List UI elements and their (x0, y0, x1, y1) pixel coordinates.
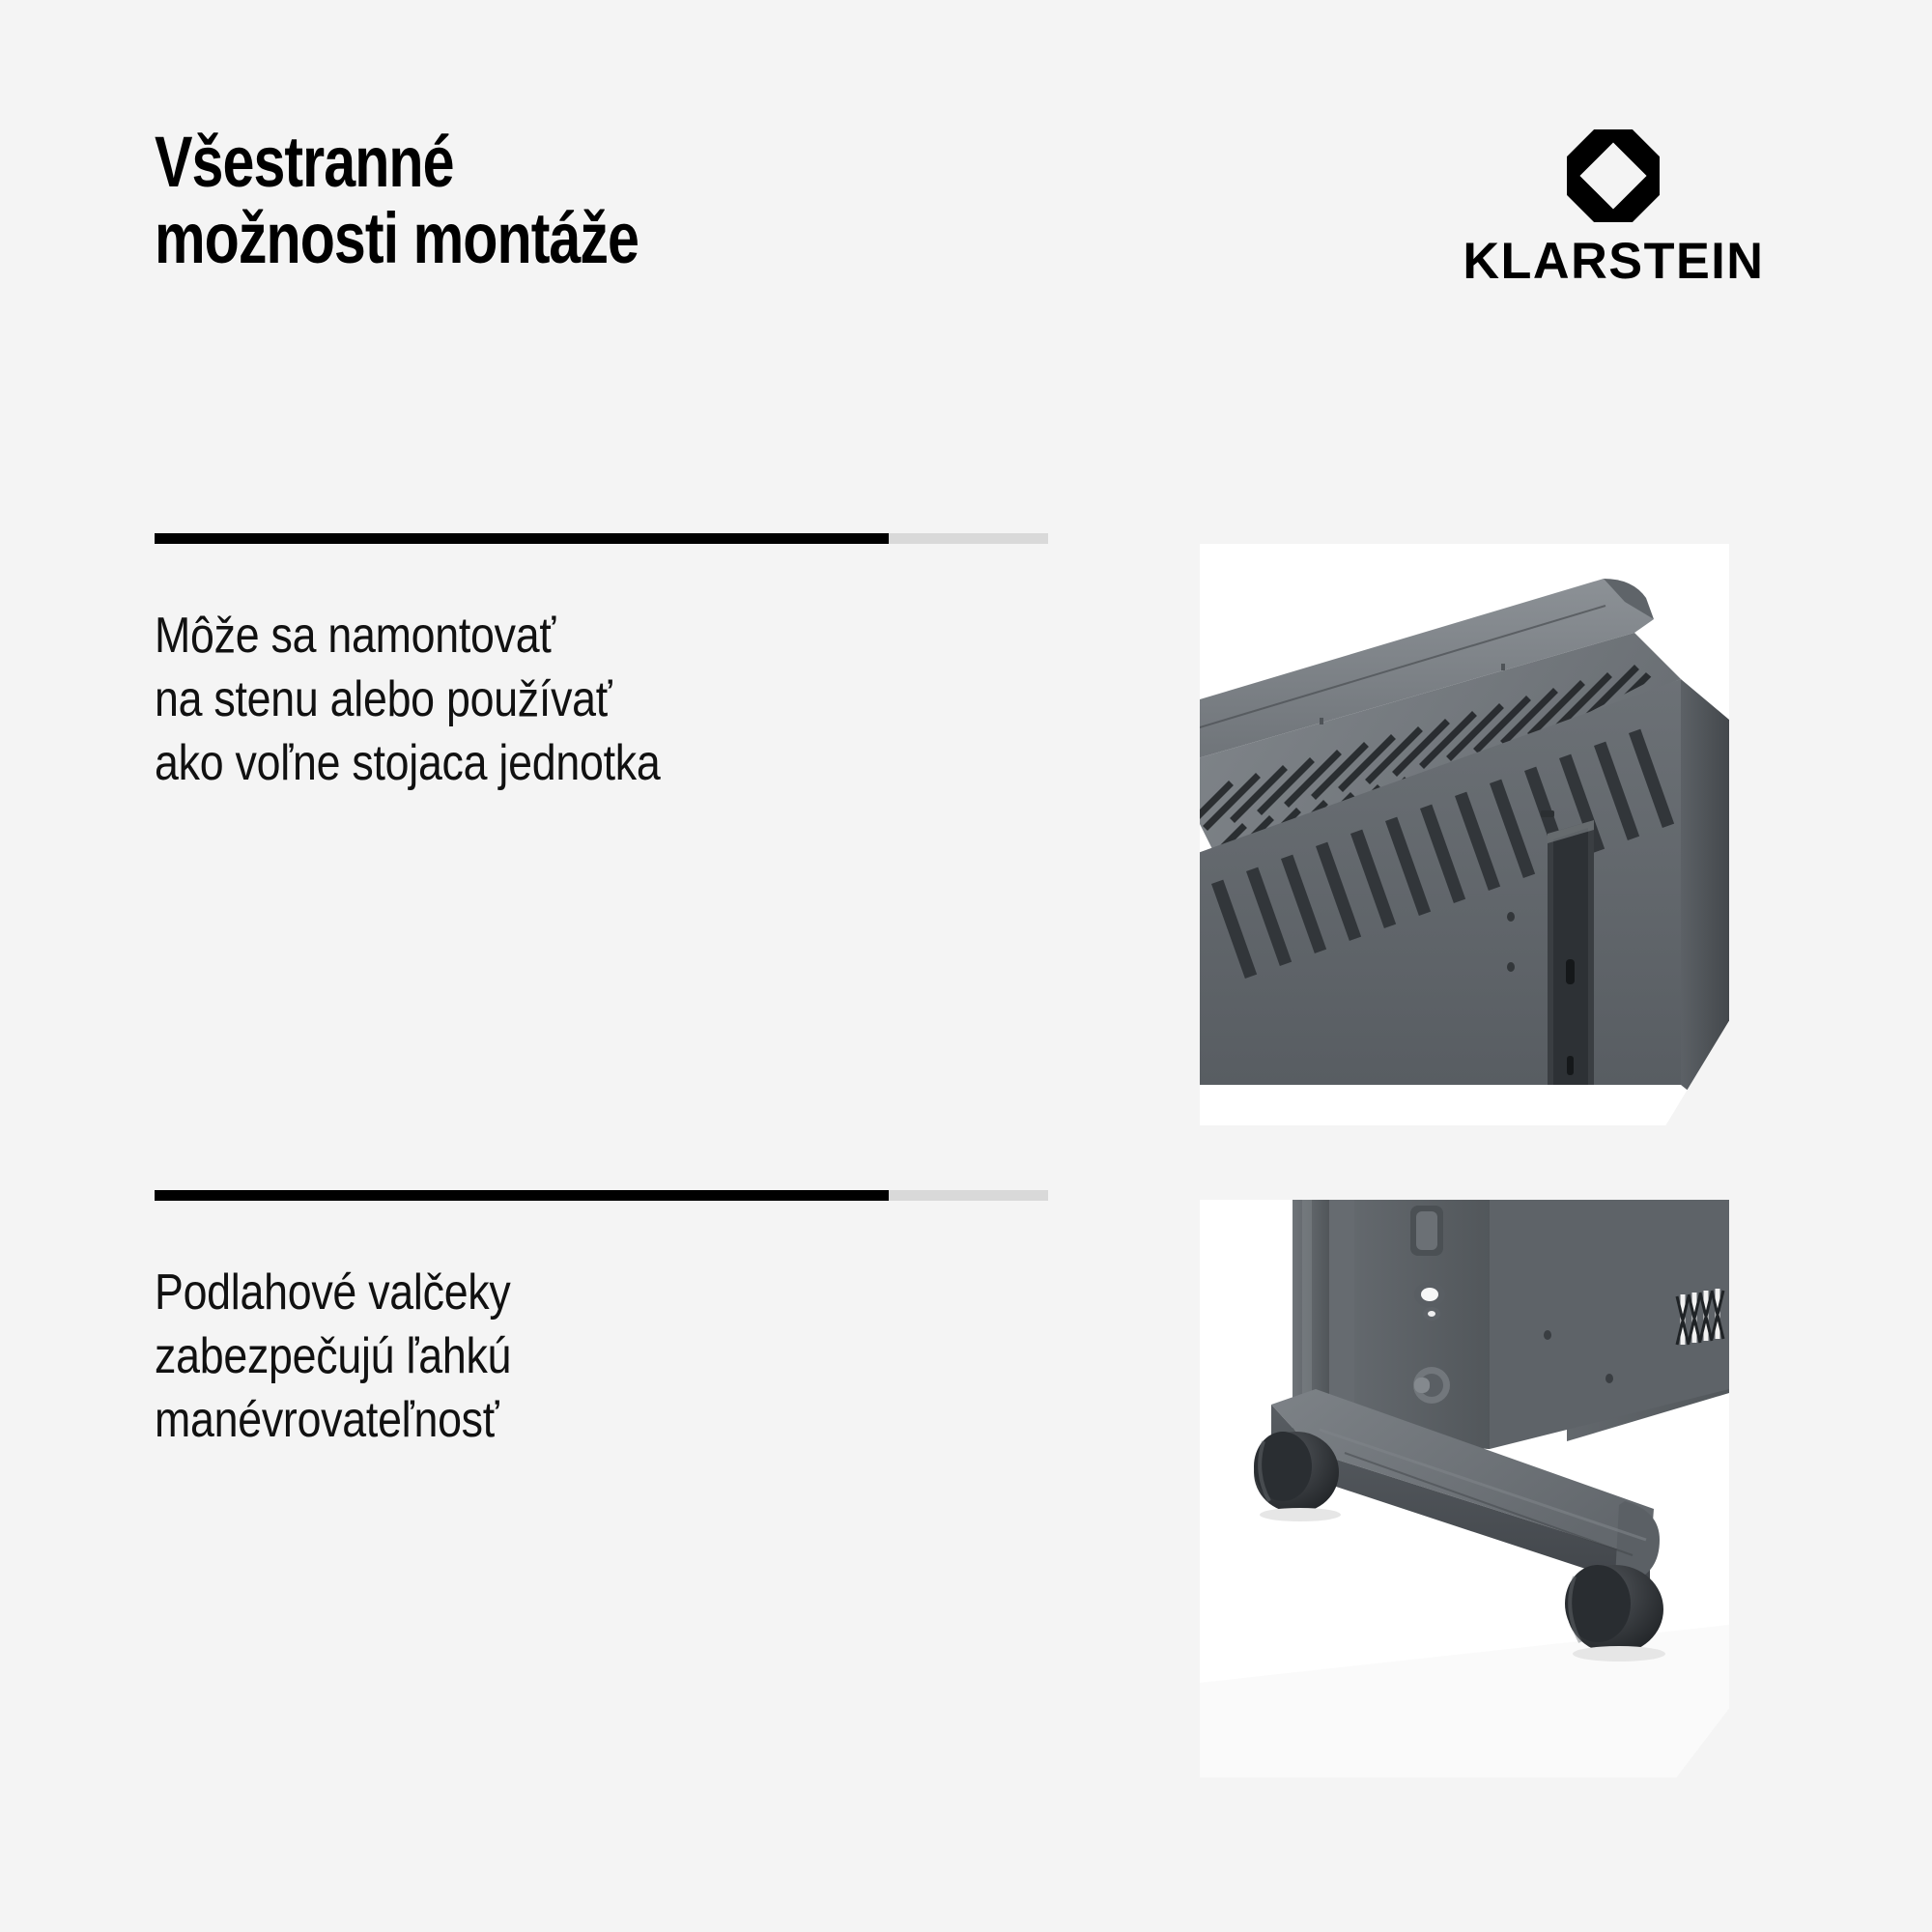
feature-divider (155, 533, 1048, 544)
feature-block-wall-or-freestanding: Môže sa namontovať na stenu alebo použív… (155, 533, 1048, 795)
product-photo-wall-mount (1200, 544, 1729, 1125)
divider-filled-segment (155, 1190, 889, 1201)
feature-description: Môže sa namontovať na stenu alebo použív… (155, 604, 923, 795)
klarstein-octagon-logo-icon (1567, 129, 1660, 222)
brand-lockup: KLARSTEIN (1439, 129, 1787, 287)
divider-track-segment (889, 533, 1048, 544)
caster-wheel-right (1565, 1565, 1663, 1654)
feature-block-floor-casters: Podlahové valčeky zabezpečujú ľahkú mané… (155, 1190, 1048, 1452)
product-photo-casters (1200, 1200, 1729, 1777)
heater-base-illustration (1200, 1200, 1729, 1777)
feature-divider (155, 1190, 1048, 1201)
divider-filled-segment (155, 533, 889, 544)
caster-wheel-left (1254, 1432, 1339, 1513)
heater-top-illustration (1200, 544, 1729, 1125)
feature-description: Podlahové valčeky zabezpečujú ľahkú mané… (155, 1261, 923, 1452)
divider-track-segment (889, 1190, 1048, 1201)
brand-wordmark: KLARSTEIN (1463, 236, 1764, 287)
infographic-page: Všestranné možnosti montáže KLARSTEIN Mô… (0, 0, 1932, 1932)
page-header: Všestranné možnosti montáže KLARSTEIN (155, 124, 1787, 327)
page-title: Všestranné možnosti montáže (155, 124, 927, 276)
